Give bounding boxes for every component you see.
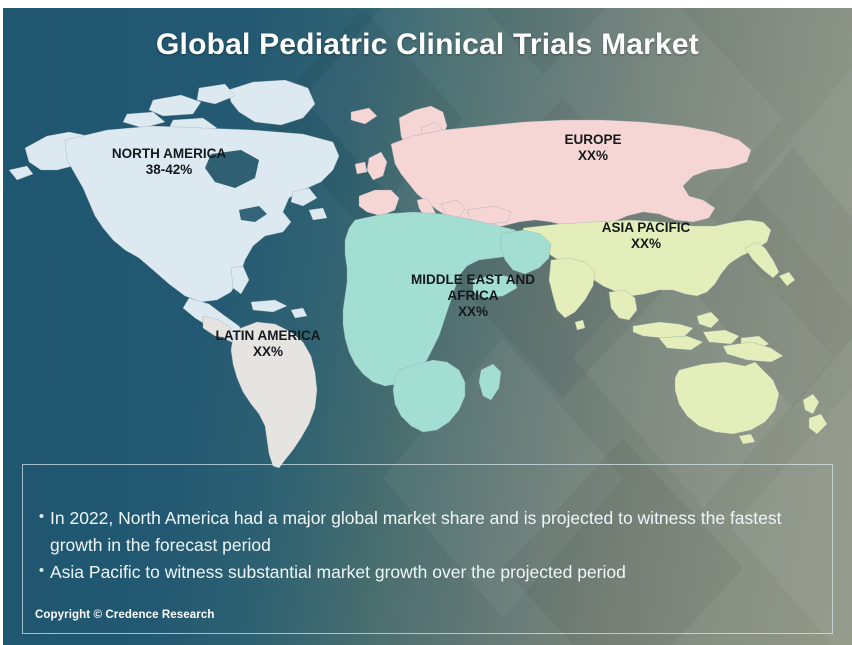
region-name-asia-pacific: ASIA PACIFIC — [561, 220, 731, 236]
page-title: Global Pediatric Clinical Trials Market — [3, 28, 852, 62]
copyright-notice: Copyright © Credence Research — [35, 609, 214, 621]
insights-bullet-list: • In 2022, North America had a major glo… — [33, 505, 820, 587]
region-label-asia-pacific: ASIA PACIFIC XX% — [561, 220, 731, 252]
list-item: • In 2022, North America had a major glo… — [33, 505, 820, 558]
map-region-asia-pacific — [523, 220, 827, 444]
map-region-mea — [343, 212, 551, 432]
world-map — [3, 70, 852, 470]
region-name-mea-line2: AFRICA — [373, 288, 573, 304]
region-value-mea: XX% — [373, 304, 573, 320]
region-label-europe: EUROPE XX% — [508, 132, 678, 164]
bullet-text-2: Asia Pacific to witness substantial mark… — [50, 559, 820, 586]
region-name-latin-america: LATIN AMERICA — [183, 328, 353, 344]
region-value-asia-pacific: XX% — [561, 236, 731, 252]
region-label-north-america: NORTH AMERICA 38-42% — [64, 146, 274, 178]
bullet-text-1: In 2022, North America had a major globa… — [50, 505, 820, 558]
bullet-dot-icon: • — [33, 559, 50, 582]
region-name-north-america: NORTH AMERICA — [64, 146, 274, 162]
map-region-europe — [351, 106, 751, 228]
list-item: • Asia Pacific to witness substantial ma… — [33, 559, 820, 586]
region-value-europe: XX% — [508, 148, 678, 164]
region-value-latin-america: XX% — [183, 344, 353, 360]
insights-textbox: • In 2022, North America had a major glo… — [22, 464, 833, 634]
map-region-north-america — [9, 80, 339, 346]
region-name-mea-line1: MIDDLE EAST AND — [373, 272, 573, 288]
infographic-slide: Global Pediatric Clinical Trials Market — [3, 8, 852, 645]
region-label-latin-america: LATIN AMERICA XX% — [183, 328, 353, 360]
region-value-north-america: 38-42% — [64, 162, 274, 178]
region-label-mea: MIDDLE EAST AND AFRICA XX% — [373, 272, 573, 320]
bullet-dot-icon: • — [33, 505, 50, 528]
region-name-europe: EUROPE — [508, 132, 678, 148]
